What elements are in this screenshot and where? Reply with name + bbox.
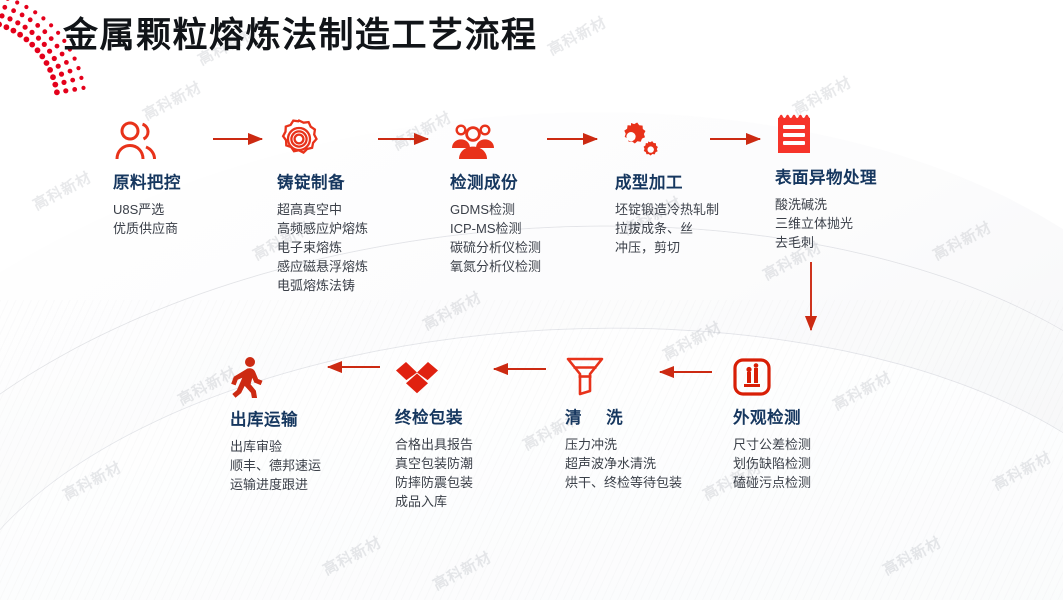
flow-connectors [0, 0, 1063, 600]
